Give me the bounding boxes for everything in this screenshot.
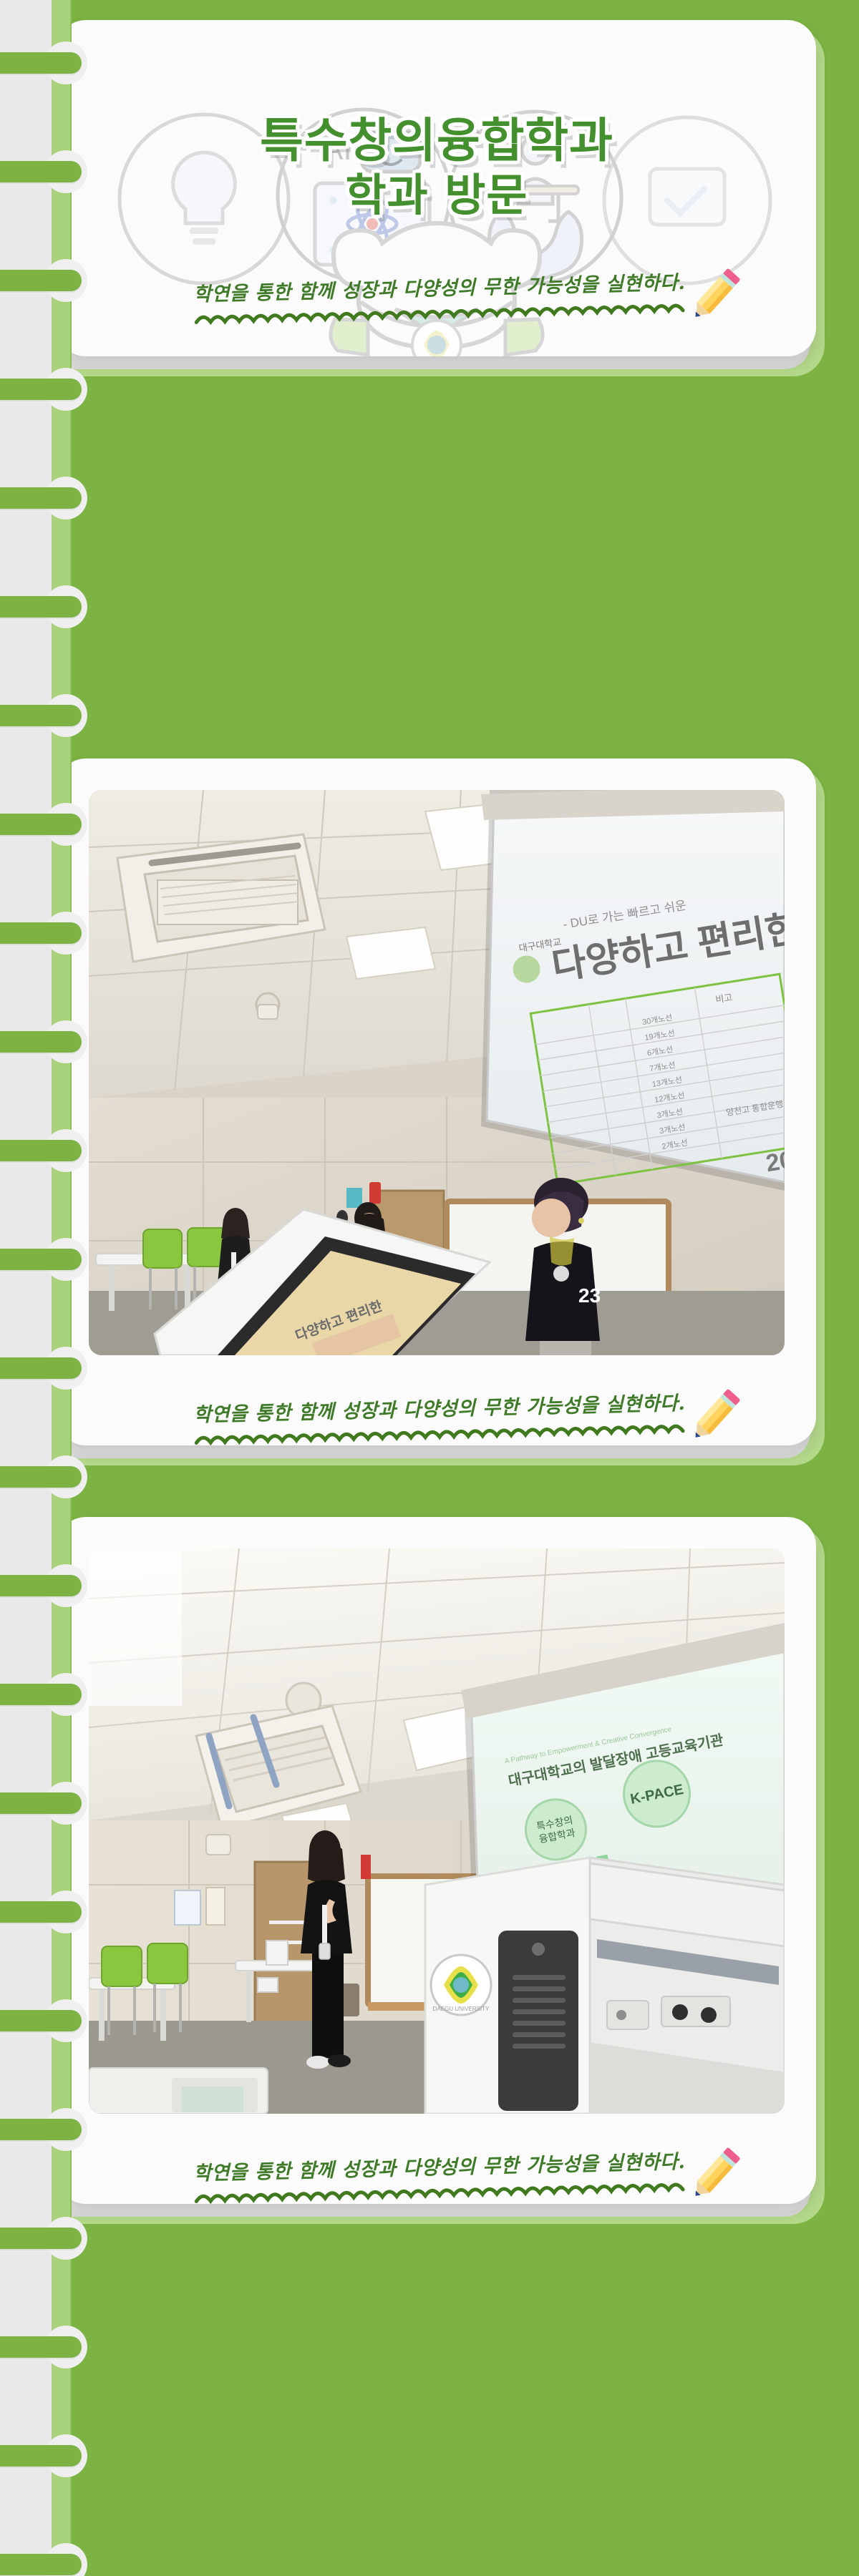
binding-ring — [0, 705, 82, 726]
photo-card-1-wrapper: - DU로 가는 빠르고 쉬운 다양하고 편리한 대구대학교 비고 — [21, 758, 838, 1445]
pencil-icon — [681, 2141, 747, 2205]
photo-1: - DU로 가는 빠르고 쉬운 다양하고 편리한 대구대학교 비고 — [89, 790, 785, 1355]
binding-ring — [0, 596, 82, 618]
poster-title-line-2: 학과 방문 — [57, 169, 816, 221]
svg-text:23: 23 — [578, 1284, 601, 1307]
binding-ring — [0, 2336, 82, 2358]
electronic-lectern: DAEGU UNIVERSITY — [425, 1858, 785, 2114]
binding-hole — [44, 2434, 87, 2477]
svg-text:DAEGU UNIVERSITY: DAEGU UNIVERSITY — [433, 2006, 490, 2012]
binding-ring — [0, 379, 82, 400]
card-caption: 학연을 통한 함께 성장과 다양성의 무한 가능성을 실현하다. — [57, 1374, 816, 1445]
binding-hole — [44, 2543, 87, 2576]
card-caption: 학연을 통한 함께 성장과 다양성의 무한 가능성을 실현하다. — [57, 2132, 816, 2204]
title-card: AI — [57, 20, 816, 356]
photo-1-illustration: - DU로 가는 빠르고 쉬운 다양하고 편리한 대구대학교 비고 — [89, 790, 785, 1355]
photo-card-2-wrapper: 대구대학교의 발달장애 고등교육기관 A Pathway to Empowerm… — [21, 1517, 838, 2204]
binding-hole — [44, 477, 87, 519]
binding-ring — [0, 2554, 82, 2575]
card-caption: 학연을 통한 함께 성장과 다양성의 무한 가능성을 실현하다. — [57, 253, 816, 339]
photo-2: 대구대학교의 발달장애 고등교육기관 A Pathway to Empowerm… — [89, 1548, 785, 2114]
photo-card-2: 대구대학교의 발달장애 고등교육기관 A Pathway to Empowerm… — [57, 1517, 816, 2204]
poster-title-line-1: 특수창의융합학과 — [57, 113, 816, 169]
binding-hole — [44, 585, 87, 628]
pencil-icon — [681, 1382, 747, 1446]
binding-hole — [44, 694, 87, 737]
binding-ring — [0, 1466, 82, 1488]
poster-title: 특수창의융합학과 학과 방문 — [57, 113, 816, 221]
title-card-wrapper: AI — [21, 20, 838, 356]
binding-ring — [0, 2228, 82, 2249]
photo-2-illustration: 대구대학교의 발달장애 고등교육기관 A Pathway to Empowerm… — [89, 1548, 785, 2114]
poster-page: AI — [0, 0, 859, 2576]
binding-ring — [0, 487, 82, 509]
binding-hole — [44, 2326, 87, 2368]
photo-card-1: - DU로 가는 빠르고 쉬운 다양하고 편리한 대구대학교 비고 — [57, 758, 816, 1445]
pencil-icon — [681, 262, 747, 328]
binding-ring — [0, 2445, 82, 2467]
